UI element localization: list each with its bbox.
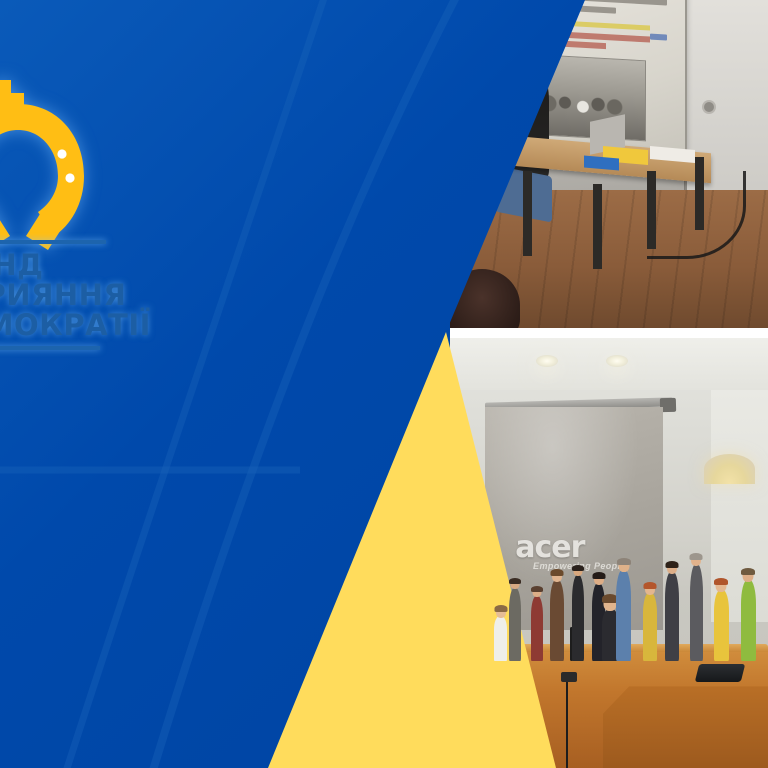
participant-hair xyxy=(494,605,507,612)
participant xyxy=(714,590,729,660)
wordmark-line-3: ДЕМОКРАТІЇ xyxy=(0,310,168,340)
organization-wordmark: ФОНД СПРИЯННЯ ДЕМОКРАТІЇ xyxy=(0,240,168,350)
participant-hair xyxy=(741,568,755,575)
participant-hair xyxy=(714,578,728,585)
participant xyxy=(550,580,563,661)
participant xyxy=(616,570,631,661)
wordmark-line-2: СПРИЯННЯ xyxy=(0,280,168,310)
photo-group-conference: acer Empowering People xyxy=(450,338,768,768)
participant-hair xyxy=(690,553,703,560)
slide-highlight-rule xyxy=(512,18,650,30)
participant xyxy=(643,593,656,661)
participant-hair xyxy=(665,561,678,568)
participant-hair xyxy=(643,582,656,589)
participant xyxy=(741,580,756,661)
participant-hair xyxy=(572,565,584,571)
participant xyxy=(572,575,584,661)
conference-table-return xyxy=(603,686,768,768)
slide-marker xyxy=(650,33,668,40)
participant-hair xyxy=(531,586,543,592)
photo-collage: acer Empowering People xyxy=(450,0,768,768)
promo-banner: acer Empowering People xyxy=(0,0,768,768)
microphone-base xyxy=(561,672,577,682)
photo-separator xyxy=(450,328,768,338)
tablet-device xyxy=(694,664,744,682)
group-of-participants xyxy=(450,454,768,660)
horseshoe-with-cross-icon xyxy=(0,78,98,253)
microphone-cable xyxy=(566,682,568,768)
wordmark-rule-top xyxy=(0,240,106,244)
seated-presenter-hair xyxy=(491,46,529,67)
slide-heading-line-2 xyxy=(502,1,616,13)
participant-hair xyxy=(617,558,631,565)
participant xyxy=(509,588,521,661)
photo-presenter-at-table xyxy=(450,0,768,328)
participant xyxy=(690,564,703,660)
organization-emblem xyxy=(0,78,168,253)
participant-hair xyxy=(592,572,605,579)
door-knob xyxy=(704,102,714,112)
wordmark-rule-bottom xyxy=(0,346,100,350)
wordmark-line-1: ФОНД xyxy=(0,250,168,280)
table-leg xyxy=(593,184,602,269)
ceiling-light xyxy=(606,355,628,367)
participant xyxy=(531,596,543,661)
participant xyxy=(494,616,507,660)
table-leg xyxy=(523,171,532,256)
participant-hair xyxy=(509,578,521,584)
participant xyxy=(665,572,678,660)
participant-hair xyxy=(550,569,563,576)
